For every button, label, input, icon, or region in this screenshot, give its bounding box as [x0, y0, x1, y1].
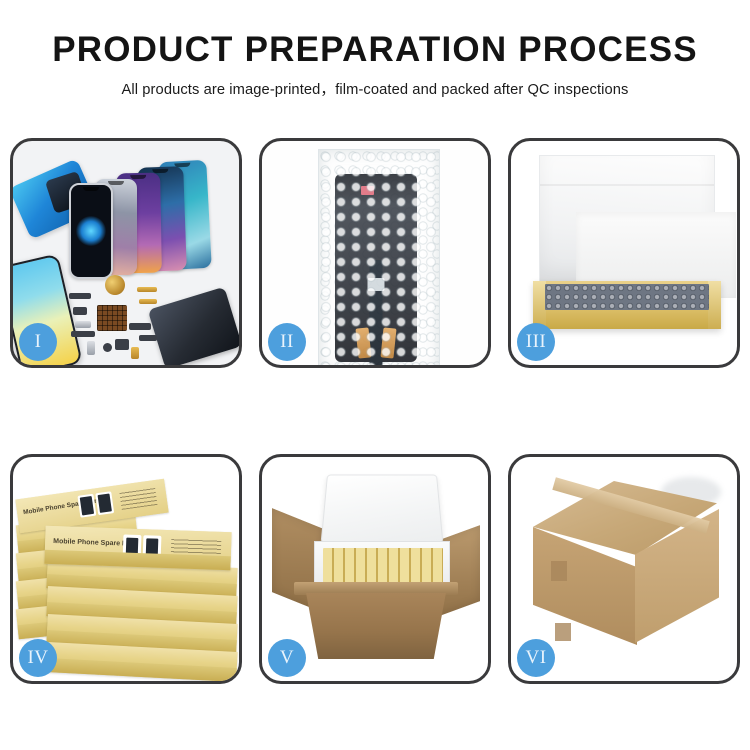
step-badge: IV — [19, 639, 57, 677]
process-step-panel-4[interactable]: Mobile Phone Spare Parts Mobile Phone Sp… — [10, 454, 242, 684]
process-step-panel-2[interactable]: II — [259, 138, 491, 368]
step-badge: I — [19, 323, 57, 361]
speaker-part-icon — [115, 339, 129, 350]
box-art-phone-icon — [77, 494, 96, 518]
carton-body — [300, 593, 452, 659]
step-badge: VI — [517, 639, 555, 677]
chip-array-icon — [97, 305, 127, 331]
connector-part-icon — [69, 293, 91, 299]
product-preparation-process-page: PRODUCT PREPARATION PROCESS All products… — [0, 0, 750, 750]
ribbon-cable-icon — [139, 335, 157, 341]
bubble-wrapped-contents-icon — [545, 284, 709, 310]
process-step-panel-3[interactable]: III — [508, 138, 740, 368]
white-foam-lid — [539, 155, 715, 283]
carton-tab-icon — [551, 561, 567, 581]
gold-box-printed-icon: Mobile Phone Spare Parts — [44, 526, 231, 570]
process-step-panel-1[interactable]: I — [10, 138, 242, 368]
gold-tab-icon — [380, 327, 396, 358]
battery-connector-icon — [131, 347, 139, 359]
phone-screen-fan — [53, 159, 233, 279]
step-badge: III — [517, 323, 555, 361]
flex-cable-icon — [137, 287, 157, 292]
step-badge: II — [268, 323, 306, 361]
flex-cable-icon — [139, 299, 157, 304]
metal-bracket-icon — [75, 321, 91, 328]
step-badge: V — [268, 639, 306, 677]
gold-boxes-inside-icon — [323, 548, 443, 586]
button-flex-icon — [71, 331, 95, 337]
process-steps-grid: I II — [10, 138, 740, 684]
connector-icon — [368, 278, 385, 291]
camera-lens-icon — [103, 343, 112, 352]
box-art-phone-icon — [95, 491, 114, 515]
phone-screen-icon — [69, 183, 113, 279]
page-title: PRODUCT PREPARATION PROCESS — [0, 30, 750, 69]
lcd-screen-icon — [335, 174, 417, 362]
ribbon-cable-icon — [129, 323, 151, 330]
coil-part-icon — [105, 275, 125, 295]
page-subtitle: All products are image-printed，film-coat… — [0, 78, 750, 99]
gold-box-tray — [533, 281, 721, 329]
spare-parts-cluster — [69, 277, 199, 363]
tray-right-lip-icon — [708, 281, 721, 329]
page-header: PRODUCT PREPARATION PROCESS All products… — [0, 0, 750, 99]
sim-tray-icon — [87, 341, 95, 355]
process-step-panel-6[interactable]: VI — [508, 454, 740, 684]
small-module-icon — [73, 307, 87, 315]
bubble-wrap-bag — [318, 149, 440, 365]
carton-tab-icon — [555, 623, 571, 641]
foam-cooler-lid — [321, 475, 444, 544]
process-step-panel-5[interactable]: V — [259, 454, 491, 684]
red-label-icon — [361, 186, 374, 195]
